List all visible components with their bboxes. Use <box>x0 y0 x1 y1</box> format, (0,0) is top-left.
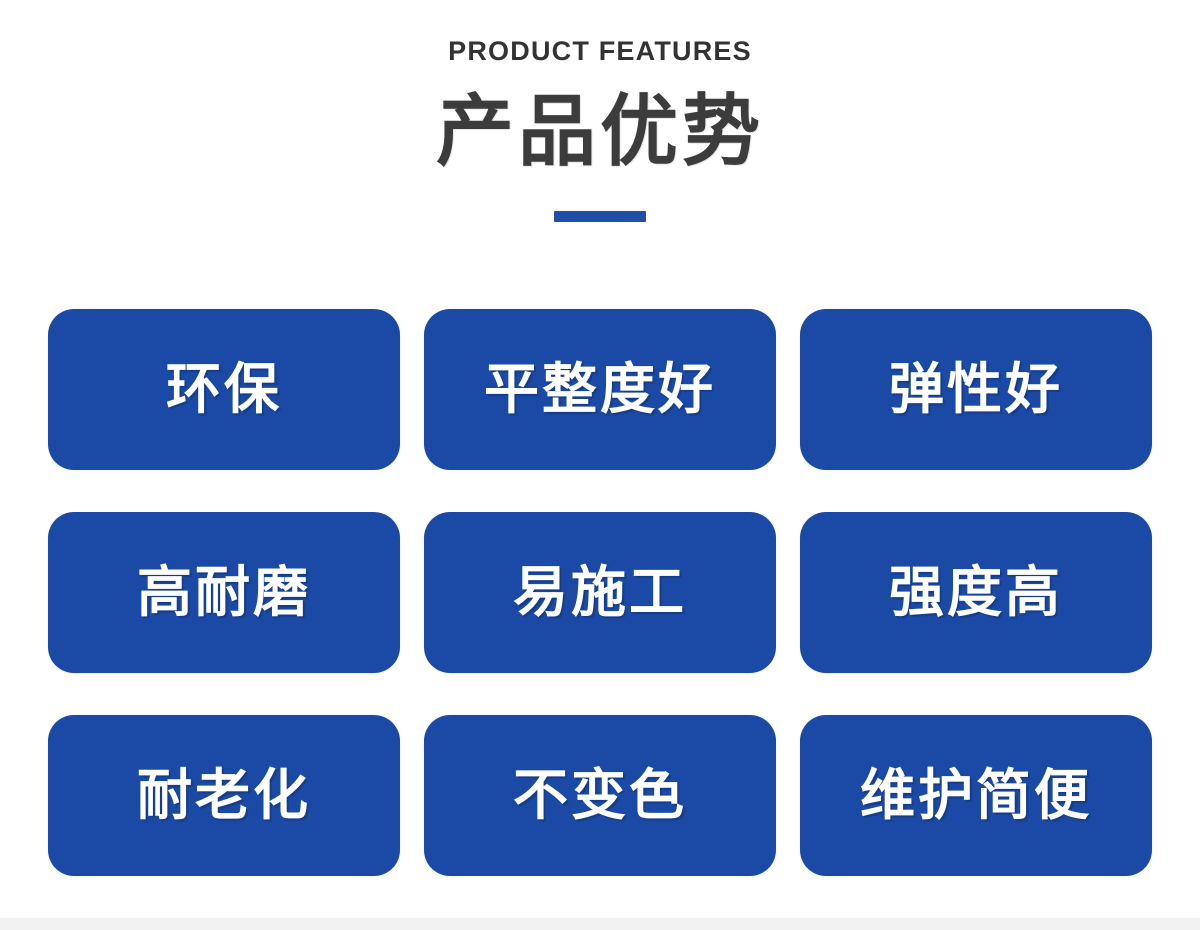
feature-card-1[interactable]: 环保 <box>48 309 400 470</box>
feature-card-3[interactable]: 弹性好 <box>800 309 1152 470</box>
divider-wrapper <box>0 171 1200 222</box>
feature-card-label: 强度高 <box>889 565 1063 620</box>
feature-card-9[interactable]: 维护简便 <box>800 715 1152 876</box>
page-header: PRODUCT FEATURES 产品优势 <box>0 0 1200 222</box>
feature-card-2[interactable]: 平整度好 <box>424 309 776 470</box>
bottom-separator-strip <box>0 918 1200 930</box>
feature-card-label: 维护简便 <box>860 768 1092 823</box>
feature-card-8[interactable]: 不变色 <box>424 715 776 876</box>
eyebrow-text: PRODUCT FEATURES <box>0 38 1200 65</box>
feature-card-label: 耐老化 <box>137 768 311 823</box>
feature-card-4[interactable]: 高耐磨 <box>48 512 400 673</box>
feature-card-label: 环保 <box>166 362 282 417</box>
feature-card-7[interactable]: 耐老化 <box>48 715 400 876</box>
feature-card-label: 易施工 <box>513 565 687 620</box>
feature-card-label: 不变色 <box>513 768 687 823</box>
product-features-page: PRODUCT FEATURES 产品优势 环保 平整度好 弹性好 高耐磨 易施… <box>0 0 1200 930</box>
page-title: 产品优势 <box>0 65 1200 171</box>
feature-card-5[interactable]: 易施工 <box>424 512 776 673</box>
feature-card-label: 高耐磨 <box>137 565 311 620</box>
feature-card-label: 弹性好 <box>889 362 1063 417</box>
title-underline-bar <box>554 211 646 222</box>
feature-card-label: 平整度好 <box>484 362 716 417</box>
feature-card-6[interactable]: 强度高 <box>800 512 1152 673</box>
feature-card-grid: 环保 平整度好 弹性好 高耐磨 易施工 强度高 耐老化 不变色 维护简便 <box>48 309 1152 876</box>
